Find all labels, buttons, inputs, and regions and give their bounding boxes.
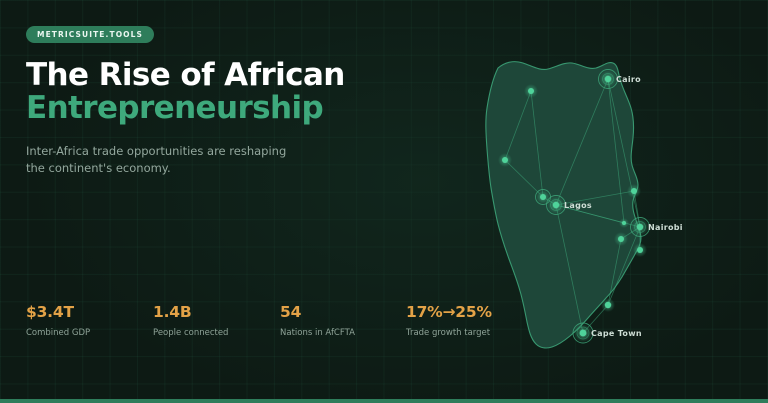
map-node[interactable] [540,194,546,200]
stat-item: 1.4B People connected [153,303,280,338]
city-node-nairobi[interactable] [637,224,643,230]
city-node-cape-town[interactable] [580,330,587,337]
city-label-cairo: Cairo [616,75,641,84]
stat-item: 17%→25% Trade growth target [406,303,546,338]
brand-badge: METRICSUITE.TOOLS [26,26,154,43]
bottom-accent-bar [0,399,768,403]
stat-label: Nations in AfCFTA [280,328,406,338]
stat-value: 54 [280,303,406,321]
map-node[interactable] [502,157,508,163]
stat-item: 54 Nations in AfCFTA [280,303,406,338]
stat-value: $3.4T [26,303,153,321]
infographic-canvas: Cairo Lagos Nairobi Cape Town METRICSUIT… [0,0,768,403]
hero-content: METRICSUITE.TOOLS The Rise of African En… [26,22,446,178]
stat-label: Trade growth target [406,328,546,338]
city-node-cairo[interactable] [605,76,611,82]
map-node[interactable] [637,247,643,253]
headline-line-1: The Rise of African [26,59,446,92]
headline-line-2: Entrepreneurship [26,92,446,125]
map-node[interactable] [528,88,534,94]
city-node-lagos[interactable] [553,202,559,208]
map-node[interactable] [618,236,624,242]
map-node[interactable] [605,302,611,308]
map-node[interactable] [631,188,637,194]
subtitle: Inter-Africa trade opportunities are res… [26,143,296,178]
city-label-nairobi: Nairobi [648,223,683,232]
map-node[interactable] [622,221,626,225]
stat-label: People connected [153,328,280,338]
stats-row: $3.4T Combined GDP 1.4B People connected… [26,303,546,338]
stat-label: Combined GDP [26,328,153,338]
stat-value: 17%→25% [406,303,546,321]
page-title: The Rise of African Entrepreneurship [26,59,446,126]
stat-item: $3.4T Combined GDP [26,303,153,338]
stat-value: 1.4B [153,303,280,321]
city-label-lagos: Lagos [564,201,592,210]
city-label-cape-town: Cape Town [591,329,642,338]
